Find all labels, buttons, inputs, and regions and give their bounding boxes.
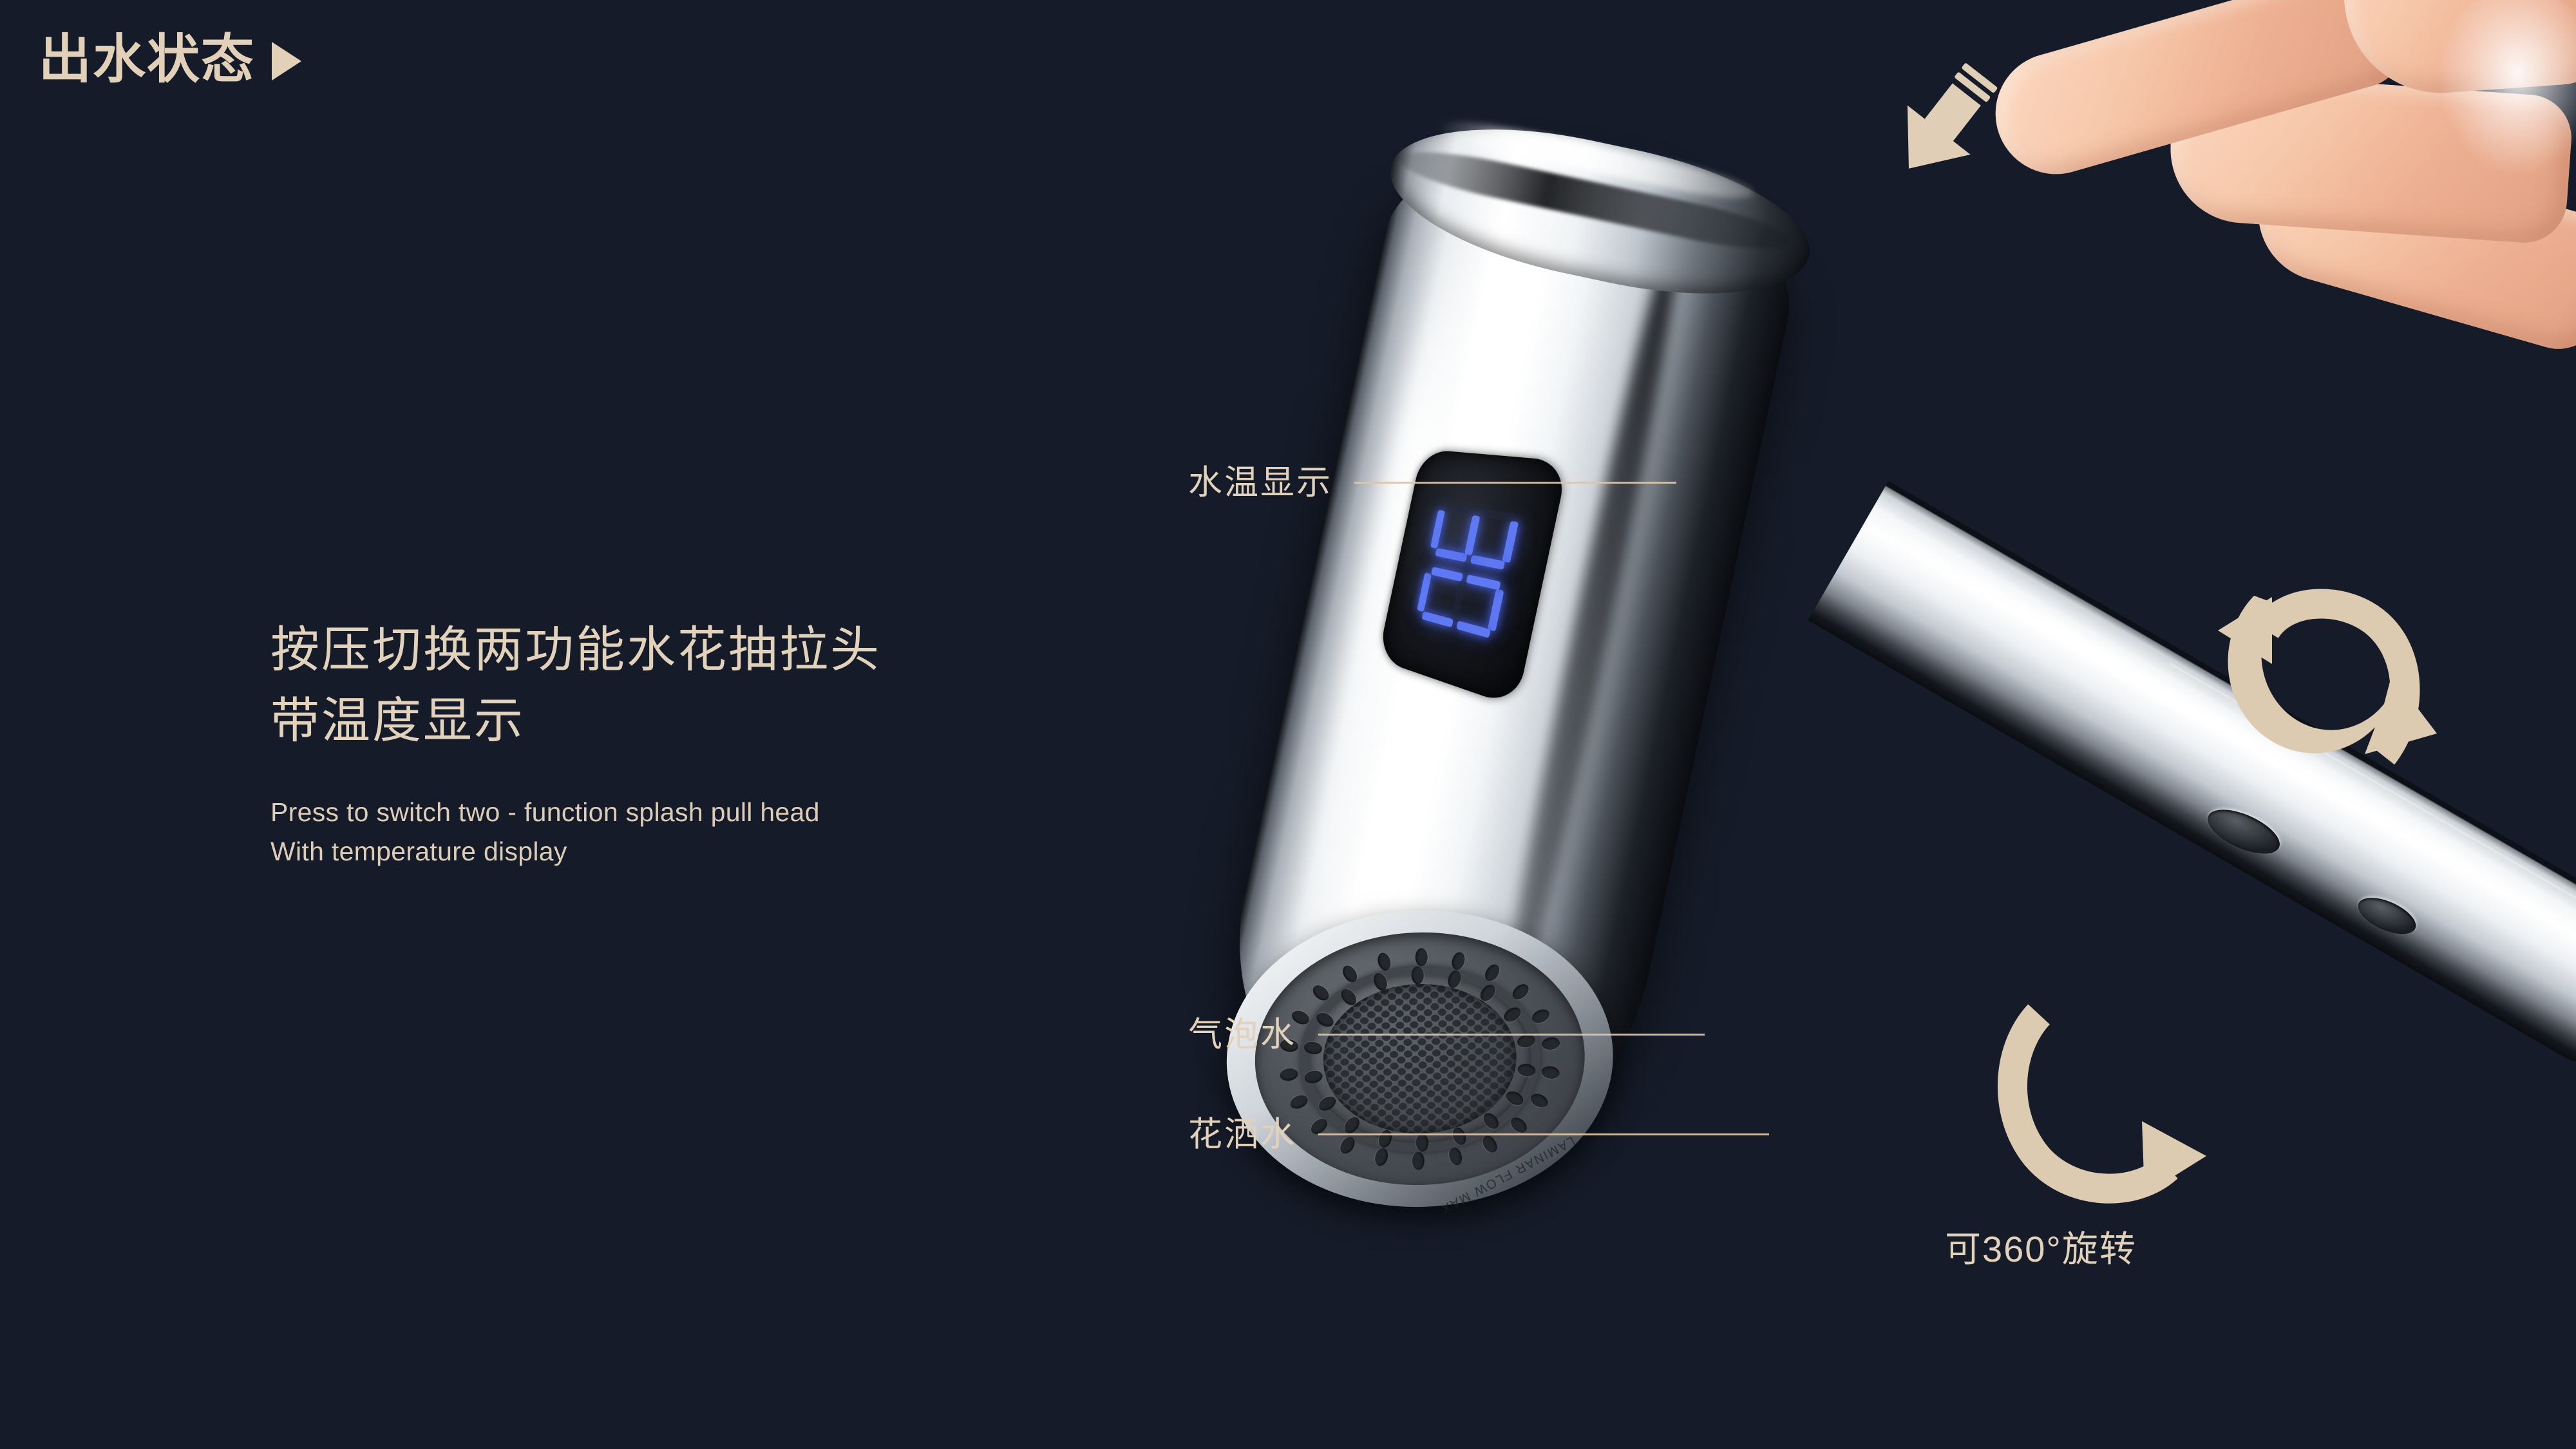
subhead-en-line1: Press to switch two - function splash pu…: [270, 793, 881, 832]
page-header: 出水状态: [39, 33, 301, 86]
rotate-ccw-arrow-icon: [2190, 583, 2447, 789]
arm-vent-slot: [2202, 800, 2286, 862]
callout-leader-line: [1318, 1034, 1705, 1036]
pressing-hand: [1984, 0, 2576, 322]
shower-hole: [1529, 1091, 1550, 1110]
callout-label: 水温显示: [1188, 466, 1332, 500]
shower-hole: [1540, 1065, 1560, 1080]
rotation-label: 可360°旋转: [1945, 1220, 2137, 1273]
arm-vent-slot: [2353, 891, 2421, 942]
product-feature-slide: LAMINAR FLOW MAX: [0, 0, 2576, 1449]
headline-cn-line1: 按压切换两功能水花抽拉头: [270, 615, 881, 686]
page-title: 出水状态: [39, 33, 255, 86]
callout-label: 气泡水: [1188, 1018, 1296, 1052]
press-down-arrow-icon: [1887, 61, 2003, 184]
aerator-face: LAMINAR FLOW MAX: [1222, 904, 1618, 1214]
play-triangle-icon: [272, 42, 301, 80]
callout-leader-line: [1354, 482, 1676, 484]
shower-hole: [1289, 1093, 1310, 1112]
headline-cn-line2: 带温度显示: [270, 686, 881, 757]
subhead-en-line2: With temperature display: [270, 832, 881, 871]
led-digit: [1429, 503, 1520, 571]
shower-hole: [1411, 966, 1424, 985]
callout-leader-line: [1318, 1133, 1769, 1135]
feature-copy-block: 按压切换两功能水花抽拉头 带温度显示 Press to switch two -…: [270, 615, 881, 871]
rotate-cw-arrow-icon: [1977, 995, 2235, 1207]
led-digit-group: [1416, 503, 1520, 639]
shower-hole: [1279, 1067, 1298, 1082]
callout-temperature: 水温显示: [1188, 466, 1676, 500]
callout-shower-water: 花洒水: [1188, 1117, 1769, 1151]
shower-hole: [1415, 948, 1427, 966]
callout-aerated-water: 气泡水: [1188, 1018, 1705, 1052]
shower-hole: [1412, 1152, 1425, 1170]
callout-label: 花洒水: [1188, 1117, 1296, 1151]
led-digit: [1416, 565, 1506, 639]
